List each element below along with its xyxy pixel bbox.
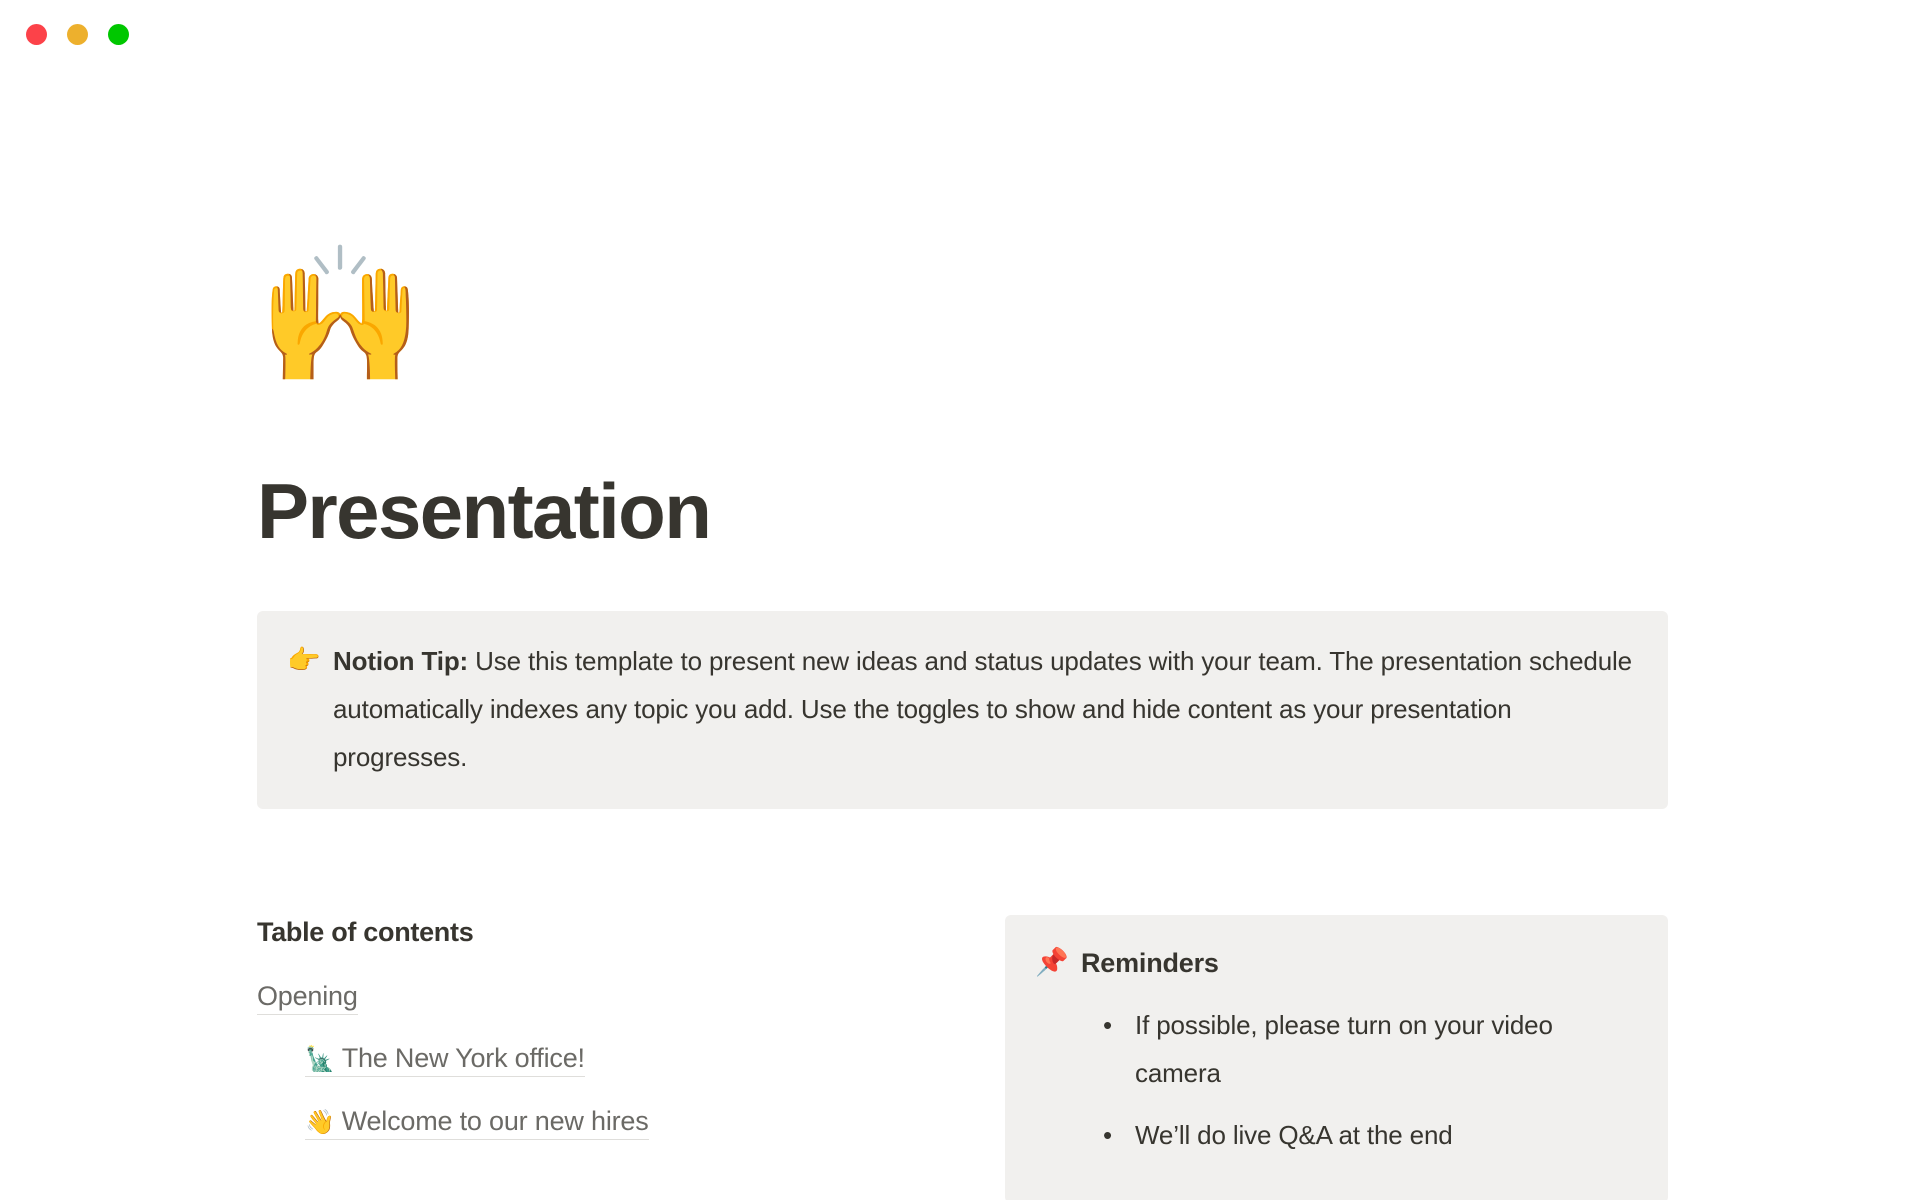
toc-link-the-new-york-office-label: 🗽The New York office! — [305, 1043, 585, 1077]
page-content: 🙌 Presentation 👉 Notion Tip: Use this te… — [257, 248, 1668, 1200]
reminders-title: Reminders — [1081, 941, 1638, 985]
window-titlebar — [0, 0, 1920, 72]
minimize-button[interactable] — [67, 24, 88, 45]
toc-link-opening-label: Opening — [257, 981, 358, 1015]
reminders-bullet-list: If possible, please turn on your video c… — [1081, 1001, 1638, 1159]
raising-hands-emoji[interactable]: 🙌 — [257, 248, 1668, 418]
pushpin-emoji: 📌 — [1035, 941, 1081, 985]
list-item: If possible, please turn on your video c… — [1081, 1001, 1638, 1097]
waving-hand-emoji: 👋 — [305, 1108, 335, 1136]
table-of-contents-heading: Table of contents — [257, 915, 1005, 950]
maximize-button[interactable] — [108, 24, 129, 45]
reminders-callout[interactable]: 📌 Reminders If possible, please turn on … — [1005, 915, 1668, 1200]
notion-tip-label: Notion Tip: — [333, 646, 468, 676]
statue-of-liberty-emoji: 🗽 — [305, 1045, 335, 1073]
toc-link-welcome-to-our-new-hires[interactable]: 👋Welcome to our new hires — [305, 1103, 1005, 1139]
toc-link-the-new-york-office[interactable]: 🗽The New York office! — [305, 1040, 1005, 1076]
table-of-contents-column: Table of contents Opening 🗽The New York … — [257, 915, 1005, 1165]
notion-tip-body: Use this template to present new ideas a… — [333, 646, 1632, 772]
toc-link-opening[interactable]: Opening — [257, 978, 1005, 1014]
close-button[interactable] — [26, 24, 47, 45]
reminders-column: 📌 Reminders If possible, please turn on … — [1005, 915, 1668, 1200]
pointing-right-emoji: 👉 — [287, 637, 333, 685]
page-scroll-area[interactable]: 🙌 Presentation 👉 Notion Tip: Use this te… — [0, 72, 1920, 1200]
table-of-contents-list: Opening 🗽The New York office! 👋Welcome t… — [257, 978, 1005, 1139]
traffic-light-controls — [26, 24, 129, 45]
toc-link-welcome-to-our-new-hires-label: 👋Welcome to our new hires — [305, 1106, 649, 1140]
toc-link-welcome-to-our-new-hires-text: Welcome to our new hires — [342, 1106, 649, 1136]
reminders-callout-body: Reminders If possible, please turn on yo… — [1081, 941, 1638, 1173]
notion-tip-callout[interactable]: 👉 Notion Tip: Use this template to prese… — [257, 611, 1668, 809]
notion-tip-callout-text: Notion Tip: Use this template to present… — [333, 637, 1638, 781]
list-item: We’ll do live Q&A at the end — [1081, 1111, 1638, 1159]
toc-link-the-new-york-office-text: The New York office! — [342, 1043, 585, 1073]
page-title[interactable]: Presentation — [257, 471, 1668, 553]
two-column-section: Table of contents Opening 🗽The New York … — [257, 915, 1668, 1200]
